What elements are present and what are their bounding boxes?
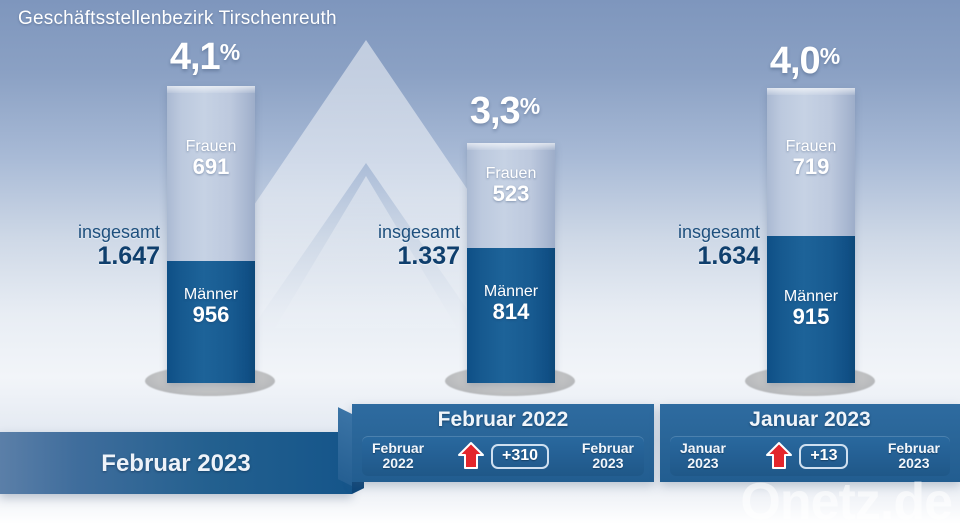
main-period-label: Februar 2023 <box>0 450 352 478</box>
comparison-heading: Januar 2023 <box>660 408 960 432</box>
up-arrow-icon <box>457 441 485 471</box>
stacked-bar-februar-2022[interactable]: Frauen 523 Männer 814 <box>467 143 555 383</box>
comparison-panel-februar-2022: Februar 2022 Februar2022 +310 Februar202… <box>352 404 654 482</box>
bar-group-februar-2023: 4,1% Frauen 691 Männer 956 insgesamt 1.6… <box>100 36 330 386</box>
comparison-from-month: Januar2023 <box>680 441 726 471</box>
bar-top-highlight <box>767 88 855 95</box>
total-value: 1.647 <box>42 242 160 270</box>
comparison-panel-januar-2023: Januar 2023 Januar2023 +13 Februar2023 <box>660 404 960 482</box>
bar-group-februar-2022: 3,3% Frauen 523 Männer 814 insgesamt 1.3… <box>400 90 630 390</box>
total-value: 1.337 <box>342 242 460 270</box>
bar-group-januar-2023: 4,0% Frauen 719 Männer 915 insgesamt 1.6… <box>700 40 930 390</box>
percent-symbol: % <box>820 43 840 69</box>
bar-top-highlight <box>467 143 555 150</box>
bar-top-highlight <box>167 86 255 93</box>
rate-label-januar-2023: 4,0% <box>690 40 920 83</box>
total-februar-2023: insgesamt 1.647 <box>42 222 160 270</box>
rate-label-februar-2022: 3,3% <box>390 90 620 133</box>
page-title: Geschäftsstellenbezirk Tirschenreuth <box>18 8 337 30</box>
bar-segment-women <box>767 88 855 236</box>
bar-segment-men <box>167 261 255 383</box>
percent-symbol: % <box>520 93 540 119</box>
comparison-to-month: Februar2023 <box>888 441 940 471</box>
delta-badge: +13 <box>799 444 848 469</box>
total-value: 1.634 <box>642 242 760 270</box>
percent-symbol: % <box>220 39 240 65</box>
stacked-bar-januar-2023[interactable]: Frauen 719 Männer 915 <box>767 88 855 383</box>
bar-segment-men <box>467 248 555 383</box>
total-januar-2023: insgesamt 1.634 <box>642 222 760 270</box>
bar-segment-women <box>167 86 255 261</box>
comparison-delta-group: +310 <box>457 441 549 471</box>
bar-segment-men <box>767 236 855 383</box>
rate-label-februar-2023: 4,1% <box>90 36 320 79</box>
total-caption: insgesamt <box>642 222 760 242</box>
delta-badge: +310 <box>491 444 549 469</box>
comparison-delta-group: +13 <box>765 441 848 471</box>
comparison-row: Februar2022 +310 Februar2023 <box>362 436 644 476</box>
infographic-canvas: Geschäftsstellenbezirk Tirschenreuth 4,1… <box>0 0 960 524</box>
up-arrow-icon <box>765 441 793 471</box>
comparison-heading: Februar 2022 <box>352 408 654 432</box>
comparison-row: Januar2023 +13 Februar2023 <box>670 436 950 476</box>
bar-segment-women <box>467 143 555 248</box>
comparison-to-month: Februar2023 <box>582 441 634 471</box>
total-caption: insgesamt <box>42 222 160 242</box>
total-februar-2022: insgesamt 1.337 <box>342 222 460 270</box>
comparison-from-month: Februar2022 <box>372 441 424 471</box>
main-period-banner: Februar 2023 <box>0 432 352 494</box>
total-caption: insgesamt <box>342 222 460 242</box>
stacked-bar-februar-2023[interactable]: Frauen 691 Männer 956 <box>167 86 255 383</box>
